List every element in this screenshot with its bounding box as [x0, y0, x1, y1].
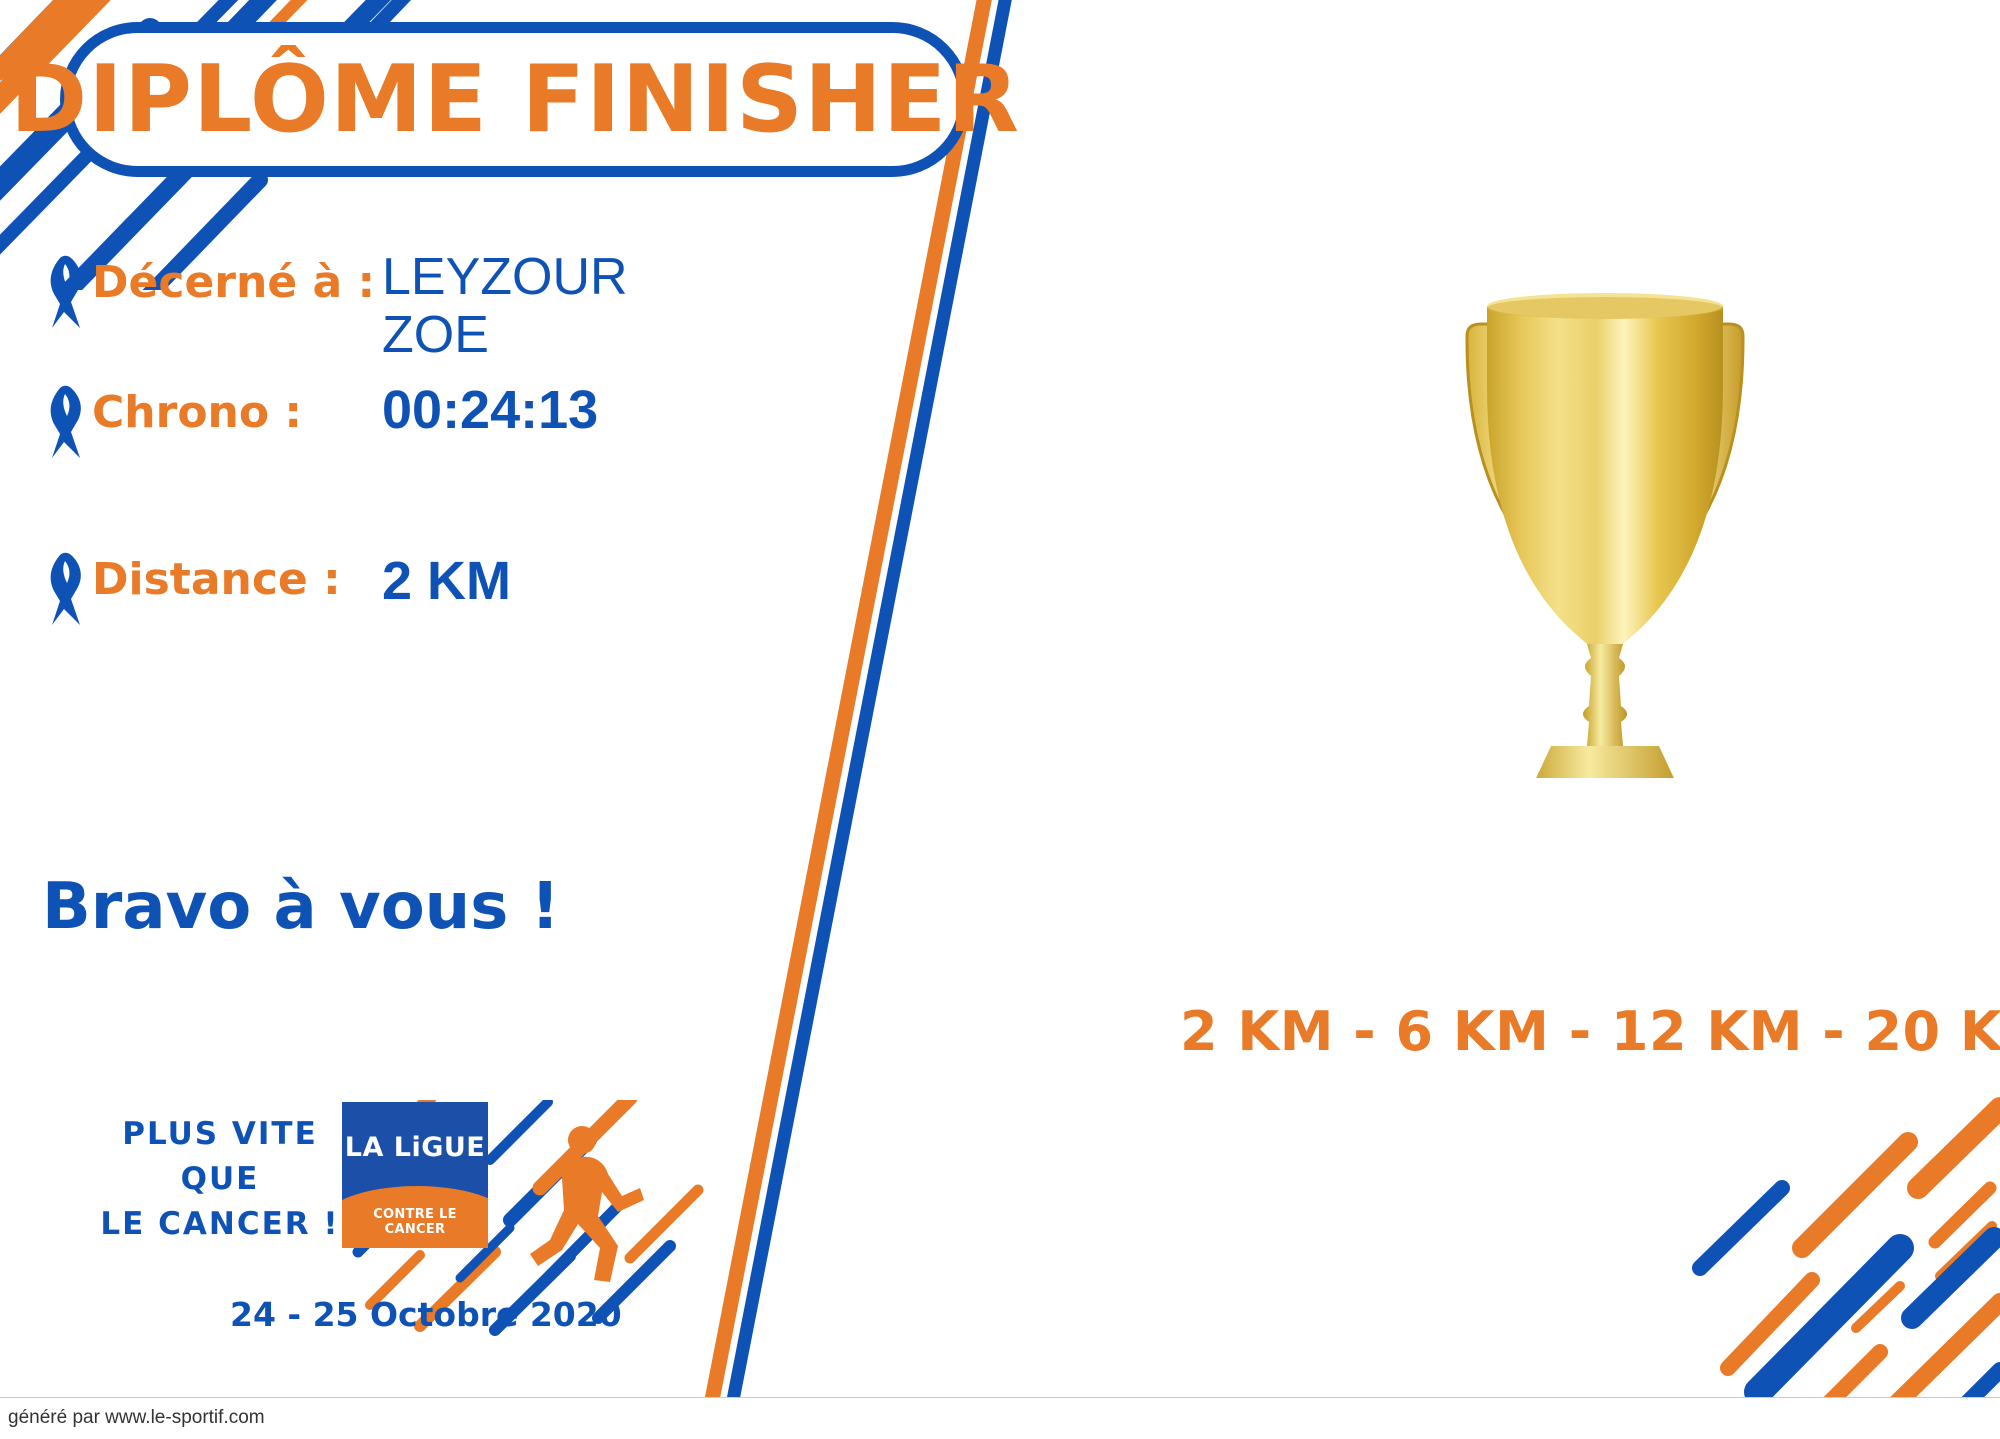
info-label-chrono: Chrono : [92, 387, 302, 438]
info-row-chrono: Chrono : 00:24:13 [40, 378, 800, 467]
info-label-cell: Décerné à : [92, 248, 382, 306]
footer-credit: généré par www.le-sportif.com [8, 1407, 265, 1429]
footer-bar: généré par www.le-sportif.com [0, 1397, 2000, 1439]
page-title: DIPLÔME FINISHER [10, 53, 1020, 146]
event-date: 24 - 25 Octobre 2020 [230, 1295, 622, 1334]
logo-name: LA LiGUE [342, 1132, 488, 1163]
trophy-icon [1355, 258, 1855, 778]
diploma-title-pill: DIPLÔME FINISHER [60, 22, 970, 177]
ribbon-icon [40, 384, 92, 467]
info-row-distance: Distance : 2 KM [40, 545, 800, 634]
info-label-cell: Chrono : [92, 378, 382, 436]
diploma-page: DIPLÔME FINISHER Décerné à : LEYZOUR ZOE [0, 0, 2000, 1439]
logo-subtitle: CONTRE LE CANCER [342, 1207, 488, 1237]
slogan-text: PLUS VITE QUE LE CANCER ! [90, 1112, 350, 1247]
info-label-cell: Distance : [92, 545, 382, 603]
info-value-name: LEYZOUR ZOE [382, 248, 628, 364]
info-label-name: Décerné à : [92, 257, 375, 308]
congratulations-text: Bravo à vous ! [42, 870, 560, 944]
ribbon-icon [40, 254, 92, 337]
slogan-line-2: QUE [90, 1157, 350, 1202]
info-label-distance: Distance : [92, 554, 341, 605]
slogan-line-1: PLUS VITE [90, 1112, 350, 1157]
info-value-chrono: 00:24:13 [382, 378, 598, 440]
distances-list: 2 KM - 6 KM - 12 KM - 20 KM [1180, 1000, 2000, 1063]
result-info-block: Décerné à : LEYZOUR ZOE Chrono : 00:24:1… [40, 248, 800, 660]
info-value-distance: 2 KM [382, 545, 511, 611]
ligue-contre-le-cancer-logo: LA LiGUE CONTRE LE CANCER [342, 1102, 488, 1248]
ribbon-icon [40, 551, 92, 634]
sponsor-logo-block: PLUS VITE QUE LE CANCER ! LA LiGUE CONTR… [70, 1100, 710, 1350]
info-row-name: Décerné à : LEYZOUR ZOE [40, 248, 800, 364]
slogan-line-3: LE CANCER ! [90, 1202, 350, 1247]
